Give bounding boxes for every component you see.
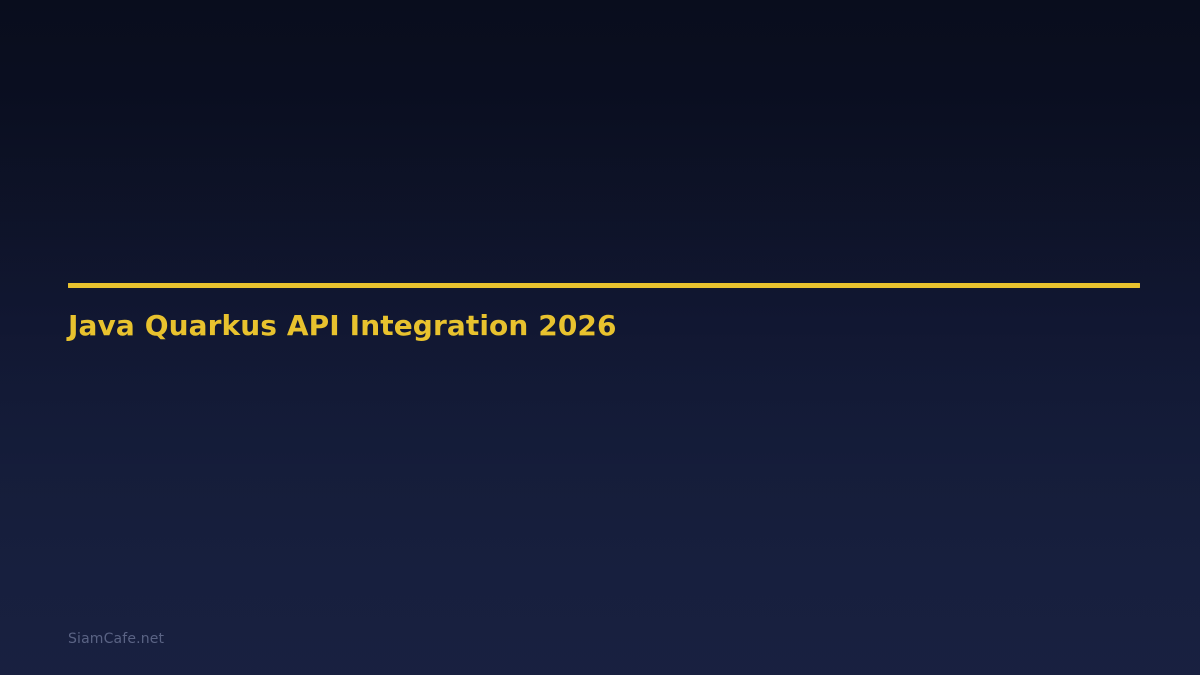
footer-brand-label: SiamCafe.net: [68, 631, 164, 647]
title-block: Java Quarkus API Integration 2026: [68, 283, 1140, 342]
presentation-slide: Java Quarkus API Integration 2026 SiamCa…: [0, 0, 1200, 675]
page-title: Java Quarkus API Integration 2026: [68, 288, 1140, 342]
slide-footer: SiamCafe.net: [68, 628, 164, 649]
